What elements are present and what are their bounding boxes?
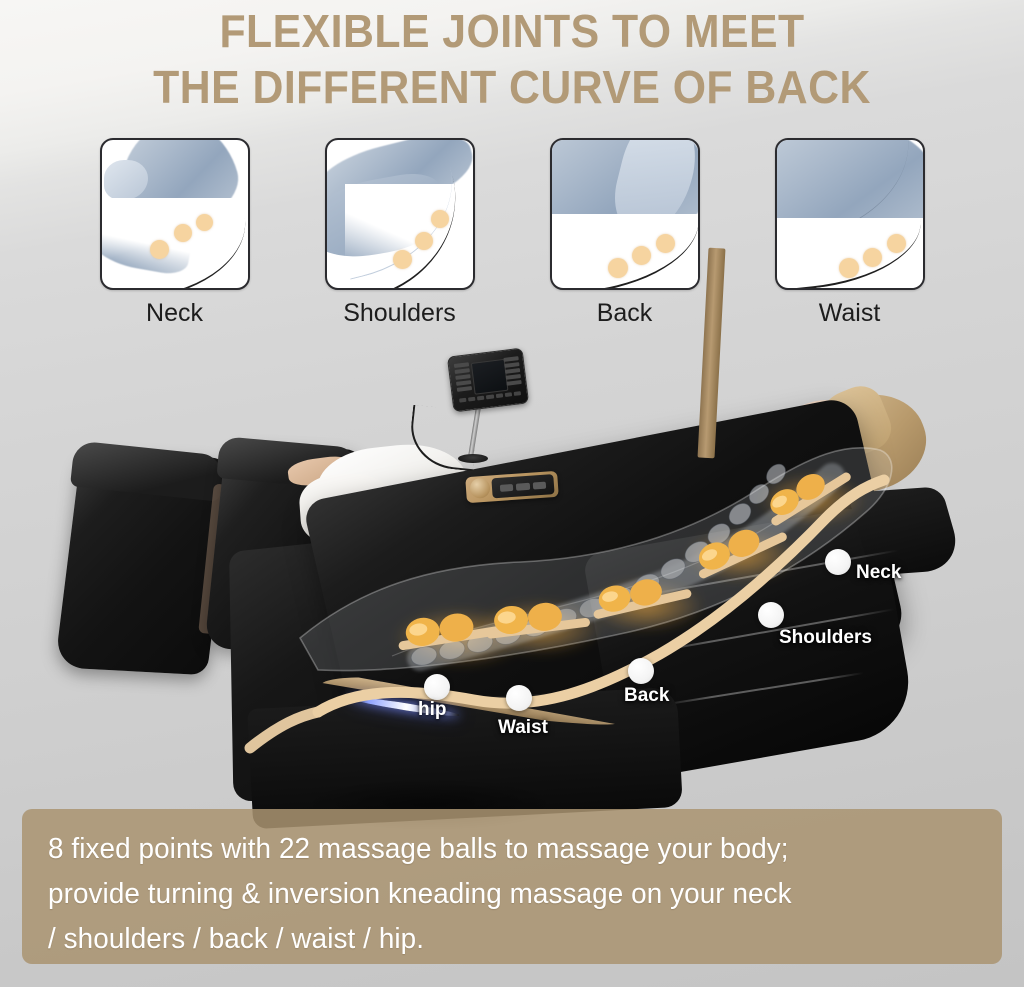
callout-node-neck[interactable] <box>825 549 851 575</box>
callout-node-waist[interactable] <box>506 685 532 711</box>
body-zone-thumbnail-strip: Neck Shoulders <box>0 138 1024 338</box>
shoulders-massage-thumbnail-icon <box>325 138 475 290</box>
thumbnail-label: Shoulders <box>343 298 456 328</box>
neck-massage-thumbnail-icon <box>100 138 250 290</box>
page-title: FLEXIBLE JOINTS TO MEET THE DIFFERENT CU… <box>0 0 1024 114</box>
callout-node-hip[interactable] <box>424 674 450 700</box>
caption-line-1: 8 fixed points with 22 massage balls to … <box>48 827 939 872</box>
feature-caption-box: 8 fixed points with 22 massage balls to … <box>22 809 1002 964</box>
callout-node-back[interactable] <box>628 658 654 684</box>
thumbnail-label: Neck <box>146 298 203 328</box>
thumbnail-cell-shoulders[interactable]: Shoulders <box>325 138 475 338</box>
thumbnail-label: Back <box>597 298 653 328</box>
massage-track-callouts: hip Waist Back Shoulders Neck <box>0 338 1024 848</box>
thumbnail-cell-waist[interactable]: Waist <box>775 138 925 338</box>
callout-label-back: Back <box>624 686 669 706</box>
callout-label-waist: Waist <box>498 718 548 738</box>
massage-track-curve <box>0 338 1024 848</box>
thumbnail-label: Waist <box>819 298 881 328</box>
callout-label-shoulders: Shoulders <box>779 628 872 648</box>
back-massage-thumbnail-icon <box>550 138 700 290</box>
product-feature-poster: FLEXIBLE JOINTS TO MEET THE DIFFERENT CU… <box>0 0 1024 987</box>
headline-line-2: THE DIFFERENT CURVE OF BACK <box>36 58 988 114</box>
callout-node-shoulders[interactable] <box>758 602 784 628</box>
callout-label-hip: hip <box>418 700 447 720</box>
waist-massage-thumbnail-icon <box>775 138 925 290</box>
callout-label-neck: Neck <box>856 563 901 583</box>
thumbnail-cell-neck[interactable]: Neck <box>100 138 250 338</box>
headline-line-1: FLEXIBLE JOINTS TO MEET <box>36 0 988 58</box>
caption-line-3: / shoulders / back / waist / hip. <box>48 917 939 962</box>
thumbnail-cell-back[interactable]: Back <box>550 138 700 338</box>
caption-line-2: provide turning & inversion kneading mas… <box>48 872 939 917</box>
